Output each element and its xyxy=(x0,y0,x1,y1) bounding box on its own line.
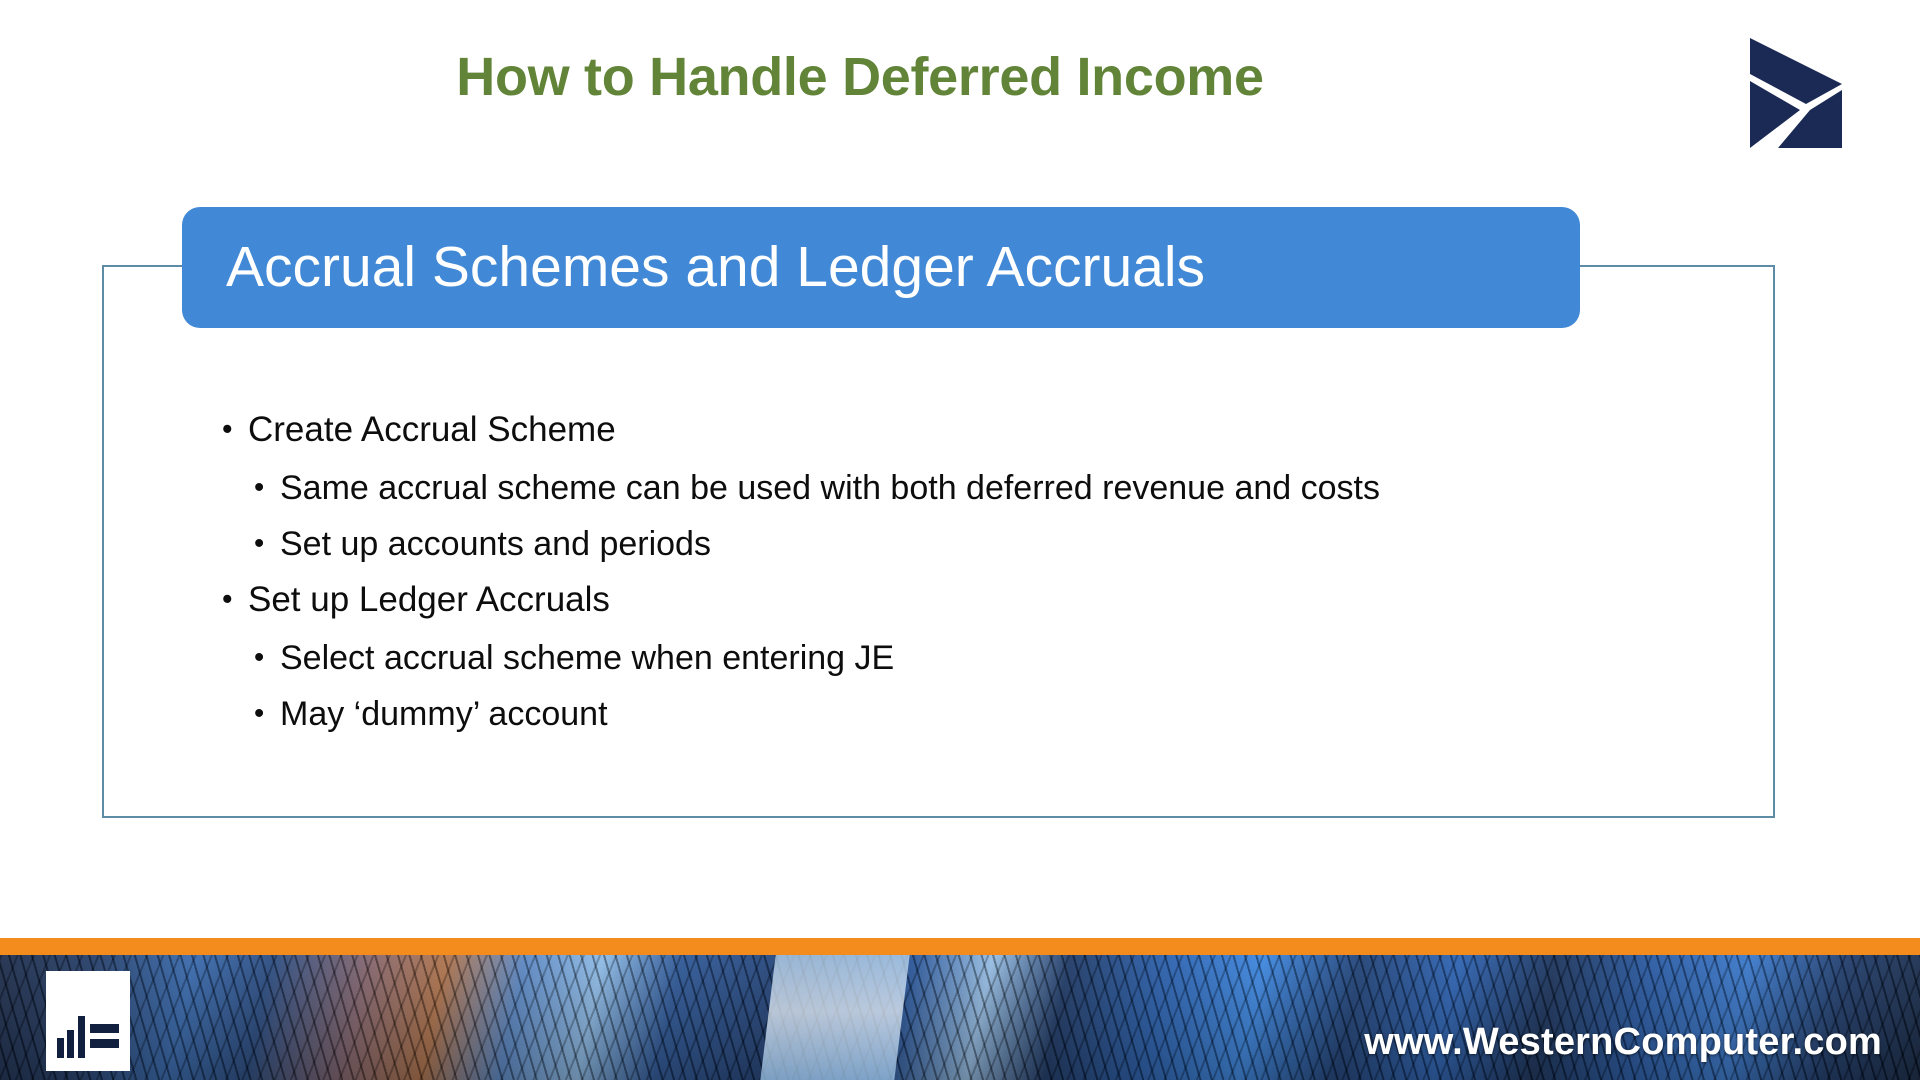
list-item-label: Select accrual scheme when entering JE xyxy=(280,630,894,686)
list-item: • Set up Ledger Accruals xyxy=(222,572,1682,628)
slide-footer: www.WesternComputer.com xyxy=(0,938,1920,1080)
page-title: How to Handle Deferred Income xyxy=(0,46,1720,108)
dynamics-365-logo xyxy=(1744,34,1856,152)
footer-website-url[interactable]: www.WesternComputer.com xyxy=(1364,1021,1882,1064)
list-item-label: Set up Ledger Accruals xyxy=(248,572,610,628)
bullet-icon: • xyxy=(254,460,280,516)
list-item: • Same accrual scheme can be used with b… xyxy=(222,460,1682,516)
bullet-list: • Create Accrual Scheme • Same accrual s… xyxy=(222,402,1682,742)
list-item-label: Same accrual scheme can be used with bot… xyxy=(280,460,1380,516)
bullet-icon: • xyxy=(254,686,280,742)
bullet-icon: • xyxy=(254,516,280,572)
slide-canvas: How to Handle Deferred Income Accrual Sc… xyxy=(0,0,1920,1080)
bullet-icon: • xyxy=(254,630,280,686)
list-item: • Select accrual scheme when entering JE xyxy=(222,630,1682,686)
list-item-label: Create Accrual Scheme xyxy=(248,402,616,458)
list-item: • May ‘dummy’ account xyxy=(222,686,1682,742)
list-item: • Create Accrual Scheme xyxy=(222,402,1682,458)
bullet-icon: • xyxy=(222,402,248,458)
bullet-icon: • xyxy=(222,572,248,628)
western-computer-logo xyxy=(46,971,130,1071)
section-banner: Accrual Schemes and Ledger Accruals xyxy=(182,207,1580,328)
footer-accent-bar xyxy=(0,938,1920,955)
list-item-label: Set up accounts and periods xyxy=(280,516,711,572)
list-item-label: May ‘dummy’ account xyxy=(280,686,608,742)
list-item: • Set up accounts and periods xyxy=(222,516,1682,572)
section-banner-heading: Accrual Schemes and Ledger Accruals xyxy=(182,239,1205,296)
